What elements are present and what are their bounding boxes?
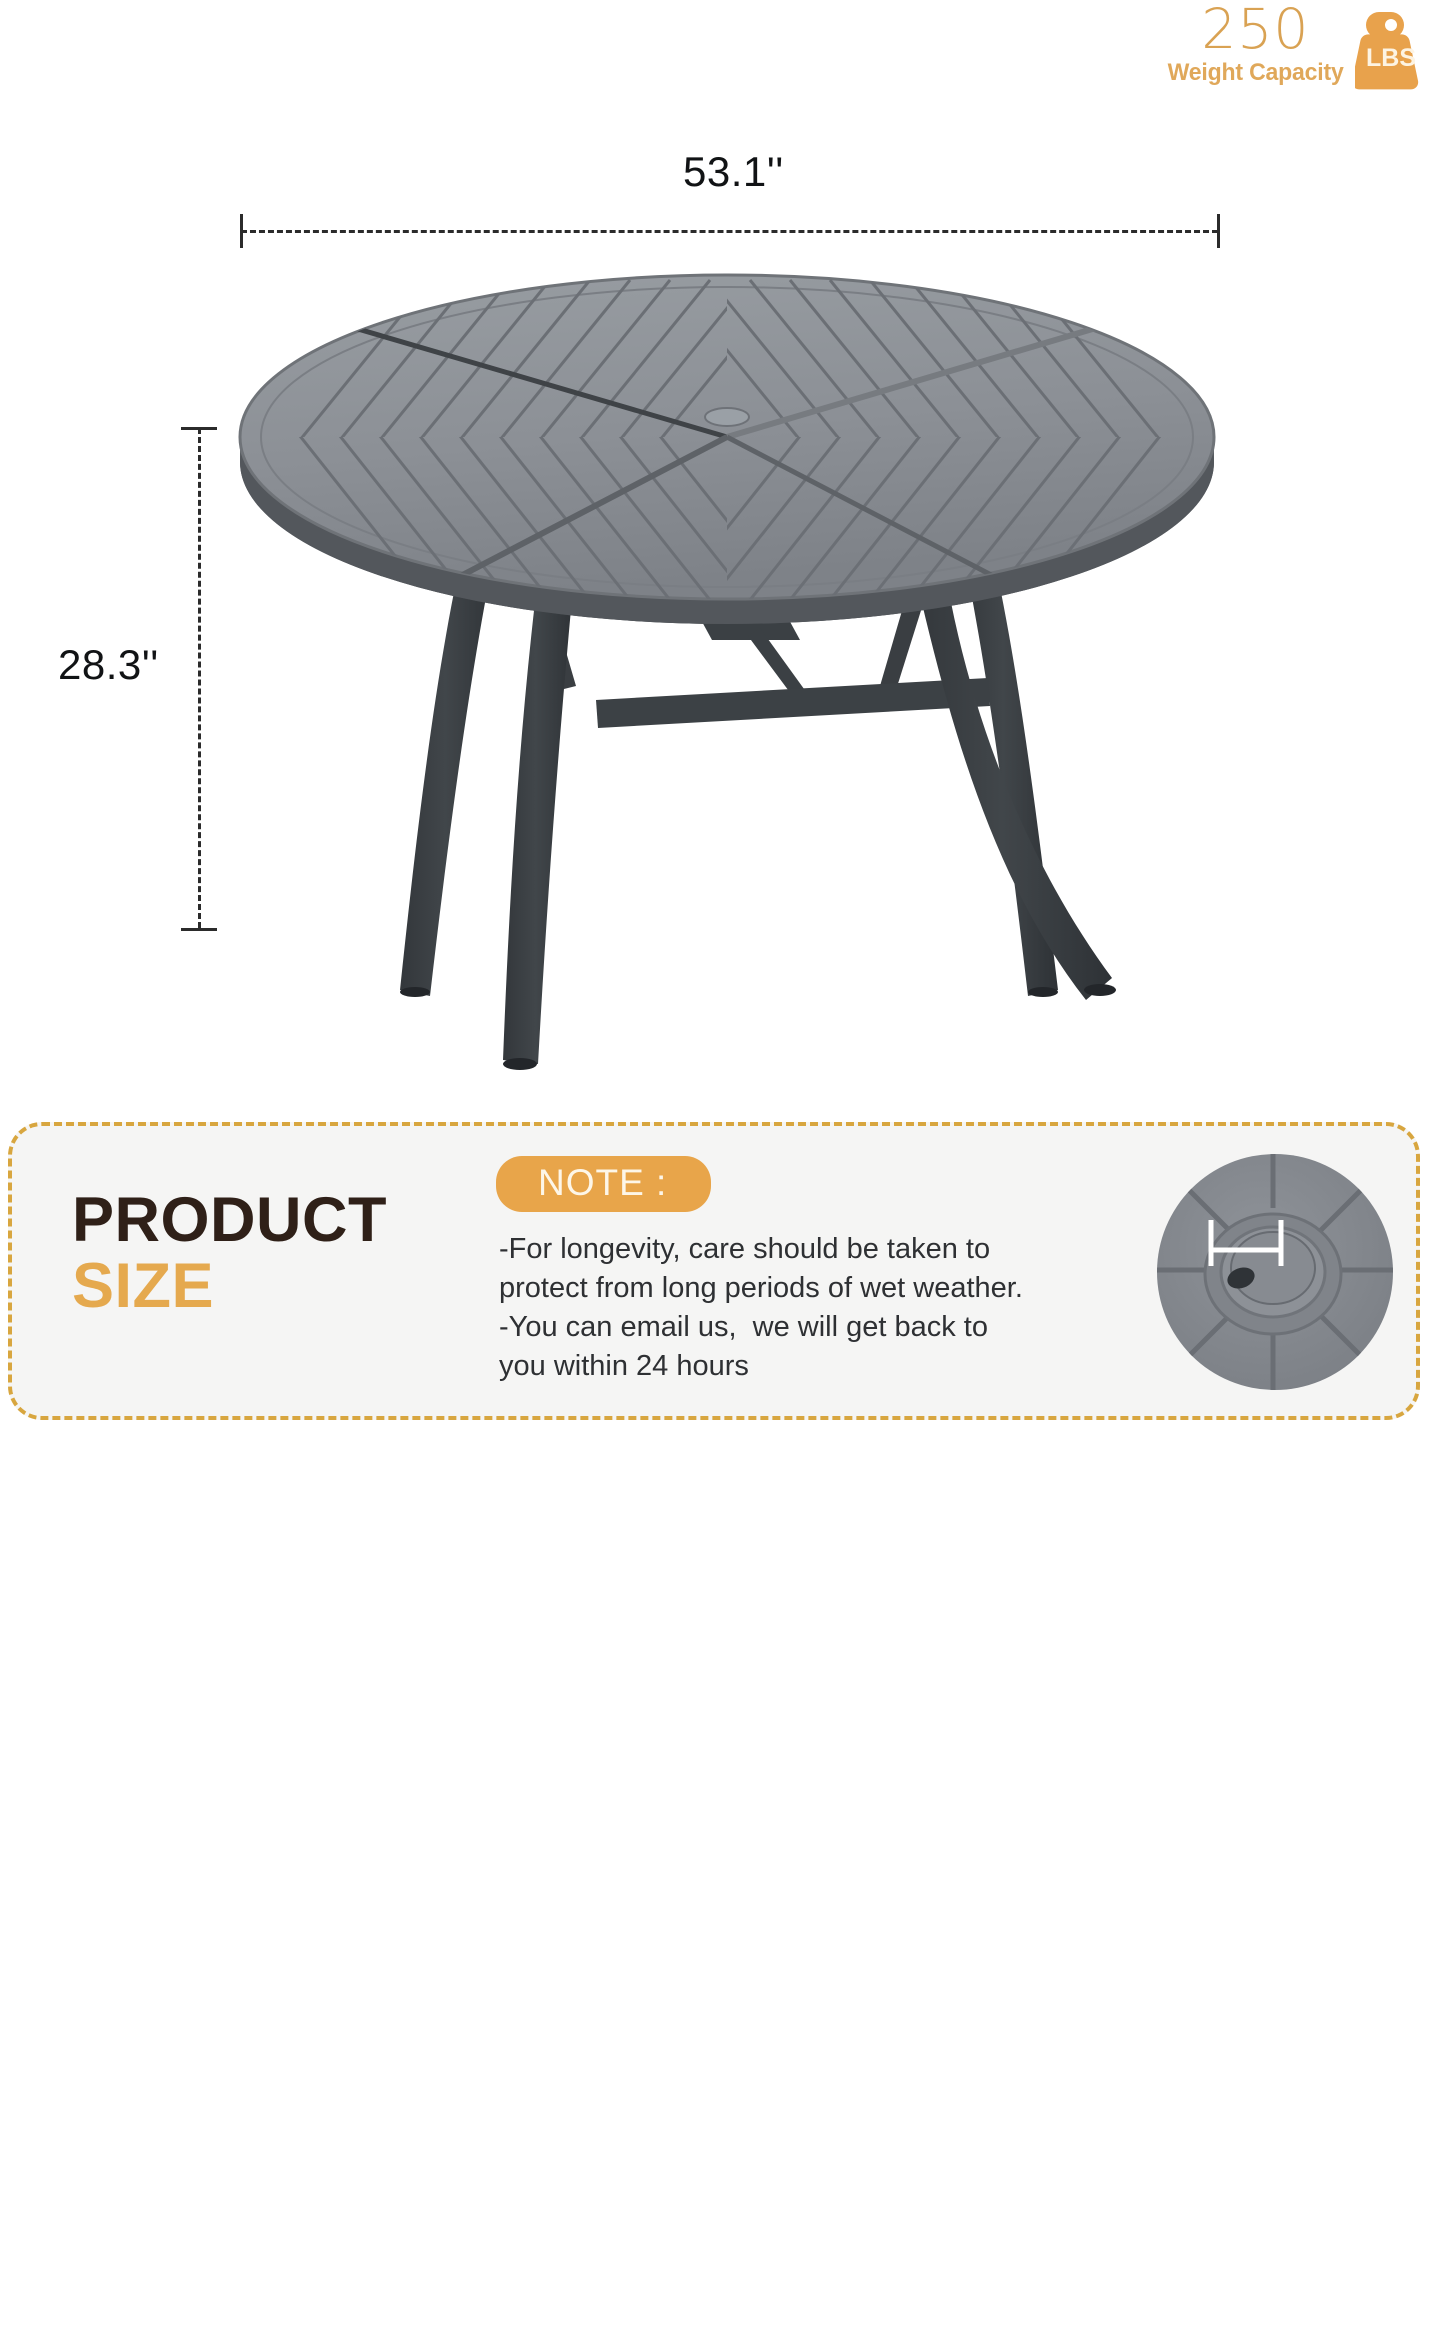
weight-capacity-value: 250 bbox=[1201, 2, 1309, 57]
product-size-panel: PRODUCT SIZE NOTE : -For longevity, care… bbox=[8, 1122, 1420, 1420]
width-dimension-tick-right bbox=[1217, 214, 1220, 248]
note-line-2: -You can email us, we will get back to y… bbox=[499, 1308, 1039, 1386]
weight-capacity-label: Weight Capacity bbox=[1167, 61, 1343, 85]
note-line-1: -For longevity, care should be taken to … bbox=[499, 1230, 1039, 1308]
weight-icon: LBS bbox=[1355, 8, 1427, 90]
height-dimension-label: 28.3'' bbox=[58, 641, 159, 689]
height-dimension-tick-bottom bbox=[181, 928, 217, 931]
weight-capacity-badge: 250 Weight Capacity LBS bbox=[1164, 2, 1427, 90]
panel-title: PRODUCT SIZE bbox=[72, 1188, 387, 1319]
width-dimension-tick-left bbox=[240, 214, 243, 248]
height-dimension-tick-top bbox=[181, 427, 217, 430]
umbrella-hole-detail bbox=[1153, 1150, 1397, 1394]
table-top-rim bbox=[240, 300, 1214, 624]
width-dimension-line bbox=[241, 230, 1218, 233]
note-badge: NOTE : bbox=[496, 1156, 711, 1212]
panel-title-line2: SIZE bbox=[72, 1254, 387, 1320]
note-text: -For longevity, care should be taken to … bbox=[499, 1230, 1039, 1385]
umbrella-hole-dimension-label: 1.9'' bbox=[1216, 2308, 1277, 2346]
svg-text:LBS: LBS bbox=[1366, 44, 1416, 72]
table-legs bbox=[400, 508, 1116, 1070]
weight-capacity-text: 250 Weight Capacity bbox=[1164, 2, 1347, 85]
height-dimension-line bbox=[198, 428, 201, 928]
width-dimension-label: 53.1'' bbox=[683, 148, 784, 196]
panel-title-line1: PRODUCT bbox=[72, 1188, 387, 1254]
table-top-surface bbox=[240, 275, 1214, 600]
